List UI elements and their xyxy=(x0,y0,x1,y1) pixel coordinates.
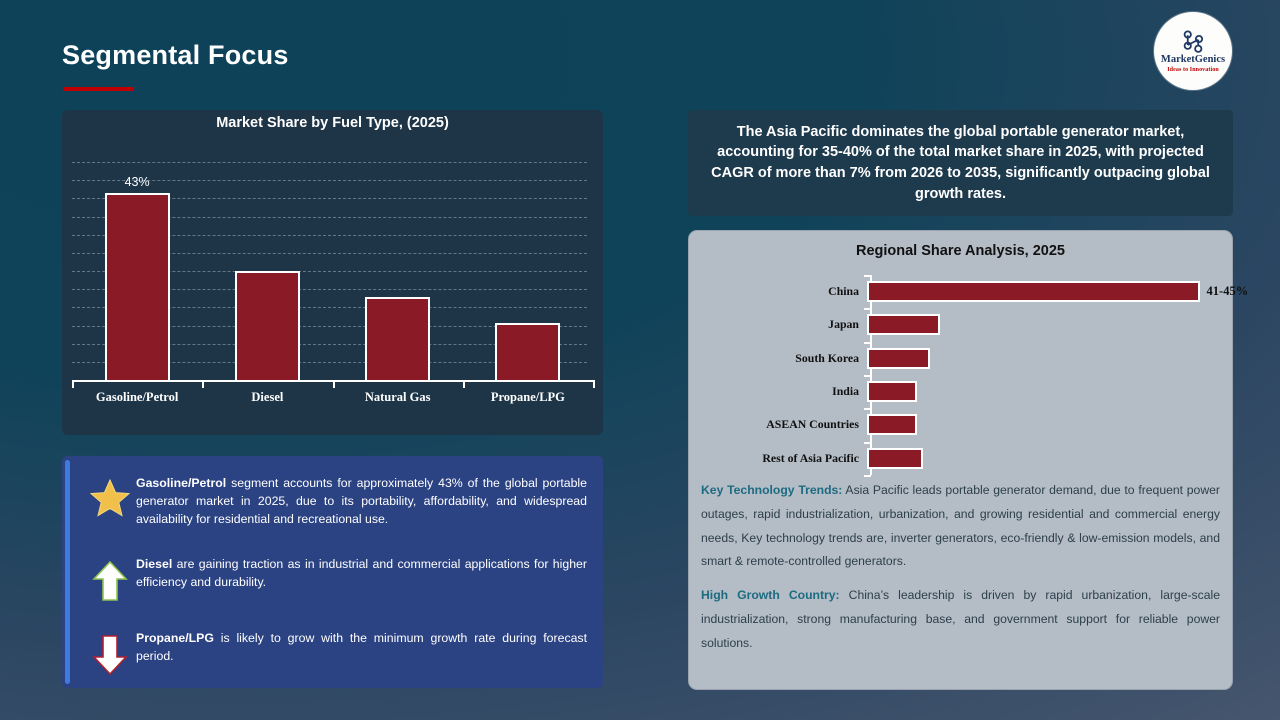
regional-bar-wrap xyxy=(867,308,1220,341)
category-label: Natural Gas xyxy=(333,390,463,405)
paragraph-lead: Key Technology Trends: xyxy=(701,483,842,497)
insight-body: are gaining traction as in industrial an… xyxy=(136,557,587,589)
regional-bar[interactable] xyxy=(867,381,917,402)
regional-bar-wrap xyxy=(867,442,1220,475)
insight-lead: Diesel xyxy=(136,557,172,571)
regional-bar-wrap: 41-45% xyxy=(867,275,1248,308)
regional-bar-label: India xyxy=(701,384,867,399)
arrow-up-icon xyxy=(84,556,136,602)
regional-bar-label: Rest of Asia Pacific xyxy=(701,451,867,466)
title-underline-rule xyxy=(63,87,133,91)
network-nodes-icon xyxy=(1178,30,1208,54)
insight-lead: Propane/LPG xyxy=(136,631,214,645)
regional-bar-row: ASEAN Countries xyxy=(701,408,1220,441)
insight-text: Gasoline/Petrol segment accounts for app… xyxy=(136,475,591,528)
insight-text: Propane/LPG is likely to grow with the m… xyxy=(136,630,591,666)
regional-bar-row: India xyxy=(701,375,1220,408)
axis-tick xyxy=(72,380,74,388)
key-technology-trends-paragraph: Key Technology Trends: Asia Pacific lead… xyxy=(701,479,1220,574)
star-icon xyxy=(84,475,136,517)
regional-bar-label: Japan xyxy=(701,317,867,332)
category-label: Gasoline/Petrol xyxy=(72,390,202,405)
bar-slot xyxy=(202,162,332,380)
logo-name: MarketGenics xyxy=(1161,55,1225,66)
bar-value-label: 43% xyxy=(125,175,150,189)
regional-bar-row: South Korea xyxy=(701,342,1220,375)
regional-bar-row: Rest of Asia Pacific xyxy=(701,442,1220,475)
regional-analysis-card: Regional Share Analysis, 2025 China41-45… xyxy=(688,230,1233,690)
axis-tick xyxy=(333,380,335,388)
slide-canvas: Segmental Focus MarketGenics Ideas to In… xyxy=(0,0,1280,720)
axis-tick xyxy=(593,380,595,388)
insight-text: Diesel are gaining traction as in indust… xyxy=(136,556,591,592)
fuel-type-chart-card: Market Share by Fuel Type, (2025) 43% Ga… xyxy=(62,110,603,435)
regional-chart-title: Regional Share Analysis, 2025 xyxy=(701,239,1220,259)
regional-bar-wrap xyxy=(867,342,1220,375)
bar[interactable] xyxy=(235,271,300,380)
regional-bar[interactable] xyxy=(867,448,923,469)
arrow-down-icon xyxy=(84,630,136,676)
regional-chart: China41-45%JapanSouth KoreaIndiaASEAN Co… xyxy=(701,275,1220,475)
regional-bar[interactable] xyxy=(867,414,917,435)
bar-slot xyxy=(333,162,463,380)
bar-slot xyxy=(463,162,593,380)
insight-item: Gasoline/Petrol segment accounts for app… xyxy=(84,470,591,528)
regional-bar-label: South Korea xyxy=(701,351,867,366)
bar[interactable] xyxy=(365,297,430,380)
asia-pacific-callout: The Asia Pacific dominates the global po… xyxy=(688,110,1233,216)
logo-tagline: Ideas to Innovation xyxy=(1167,67,1219,73)
regional-bar-label: ASEAN Countries xyxy=(701,417,867,432)
regional-bar-value-label: 41-45% xyxy=(1207,284,1249,299)
axis-tick xyxy=(202,380,204,388)
regional-bar-wrap xyxy=(867,408,1220,441)
fuel-type-chart-title: Market Share by Fuel Type, (2025) xyxy=(62,110,603,131)
bar[interactable] xyxy=(105,193,170,380)
bar-slot: 43% xyxy=(72,162,202,380)
fuel-type-chart-category-labels: Gasoline/PetrolDieselNatural GasPropane/… xyxy=(72,390,593,405)
fuel-type-chart-bars: 43% xyxy=(72,162,593,380)
regional-bar-label: China xyxy=(701,284,867,299)
high-growth-country-paragraph: High Growth Country: China’s leadership … xyxy=(701,584,1220,655)
category-label: Propane/LPG xyxy=(463,390,593,405)
page-title: Segmental Focus xyxy=(62,40,289,71)
callout-text: The Asia Pacific dominates the global po… xyxy=(704,122,1217,204)
insight-lead: Gasoline/Petrol xyxy=(136,476,226,490)
regional-bar[interactable] xyxy=(867,348,930,369)
company-logo: MarketGenics Ideas to Innovation xyxy=(1154,12,1232,90)
insight-item: Propane/LPG is likely to grow with the m… xyxy=(84,618,591,676)
regional-bar-row: Japan xyxy=(701,308,1220,341)
paragraph-lead: High Growth Country: xyxy=(701,588,840,602)
insights-panel: Gasoline/Petrol segment accounts for app… xyxy=(62,456,603,688)
axis-tick xyxy=(463,380,465,388)
axis-tick xyxy=(864,475,871,477)
regional-bar-row: China41-45% xyxy=(701,275,1220,308)
bar[interactable] xyxy=(495,323,560,380)
regional-bar[interactable] xyxy=(867,281,1200,302)
insight-item: Diesel are gaining traction as in indust… xyxy=(84,544,591,602)
regional-bar-wrap xyxy=(867,375,1220,408)
regional-bar[interactable] xyxy=(867,314,940,335)
category-label: Diesel xyxy=(202,390,332,405)
